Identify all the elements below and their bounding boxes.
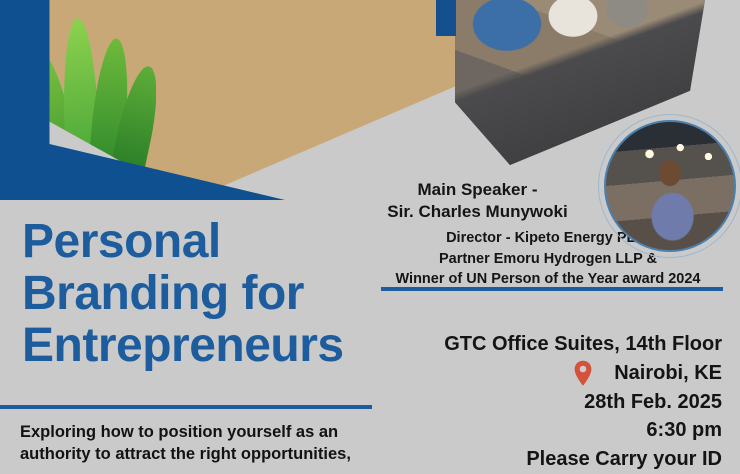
venue-time: 6:30 pm (302, 416, 722, 445)
venue-details: GTC Office Suites, 14th Floor Nairobi, K… (302, 330, 722, 474)
venue-address: GTC Office Suites, 14th Floor (302, 330, 722, 359)
blue-accent-strip (436, 0, 456, 36)
divider-right (381, 287, 723, 291)
title-line-1: Personal (22, 216, 382, 268)
green-leaves-decoration (44, 8, 156, 170)
leaf-shape (61, 17, 100, 170)
venue-date: 28th Feb. 2025 (302, 388, 722, 417)
speaker-portrait (604, 120, 736, 252)
location-pin-icon (574, 360, 592, 386)
venue-note: Please Carry your ID (302, 445, 722, 474)
venue-city: Nairobi, KE (614, 359, 722, 388)
title-line-2: Branding for (22, 268, 382, 320)
speaker-label: Main Speaker - (360, 179, 595, 201)
event-poster: Personal Branding for Entrepreneurs Expl… (0, 0, 740, 474)
venue-city-row: Nairobi, KE (302, 359, 722, 388)
speaker-name: Sir. Charles Munywoki (360, 201, 595, 223)
speaker-heading: Main Speaker - Sir. Charles Munywoki (360, 179, 595, 223)
